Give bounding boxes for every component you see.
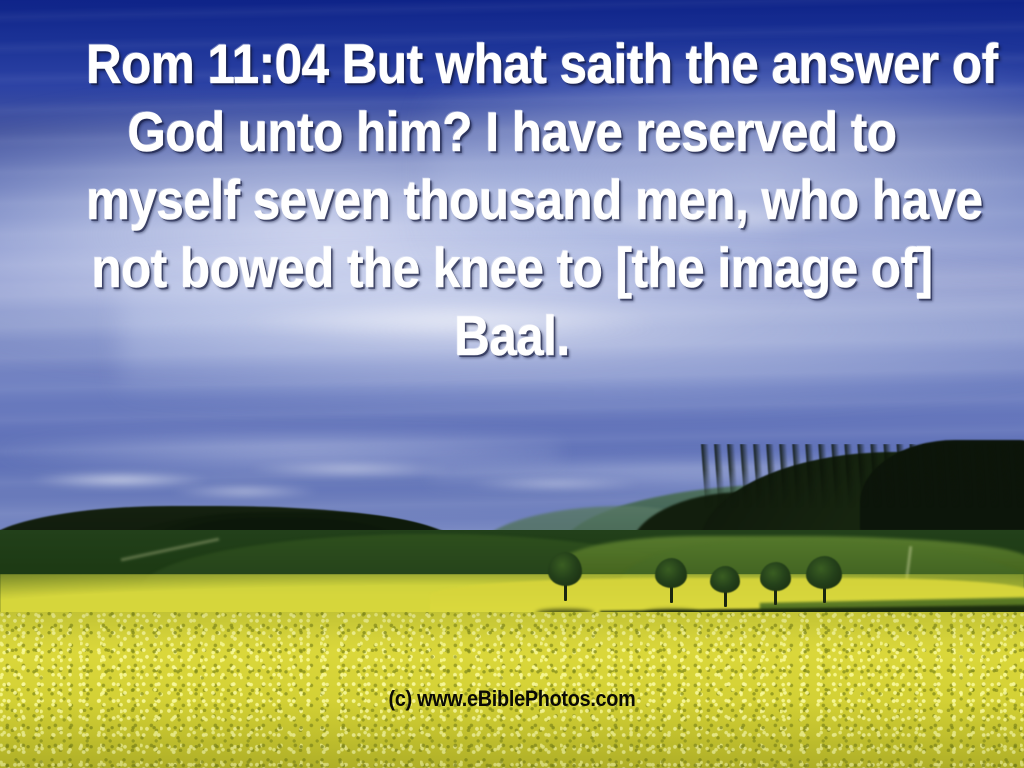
tree-crown <box>760 562 791 591</box>
verse-text-overlay: Rom 11:04 But what saith the answer of G… <box>61 30 962 370</box>
verse-line-3: myself seven thousand men, who have <box>86 166 938 234</box>
tree-crown <box>655 558 687 588</box>
verse-line-1: Rom 11:04 But what saith the answer of <box>86 30 938 98</box>
cloud-small-b <box>170 485 320 498</box>
tree-crown <box>710 566 740 593</box>
tree-crown <box>548 552 582 586</box>
verse-line-5: Baal. <box>86 302 938 370</box>
verse-line-2: God unto him? I have reserved to <box>86 98 938 166</box>
tree-crown <box>806 556 842 589</box>
tree-1 <box>548 552 582 616</box>
tree-4 <box>760 562 791 618</box>
copyright-watermark: (c) www.eBiblePhotos.com <box>51 688 973 710</box>
cloud-small-d <box>470 478 640 490</box>
tree-5 <box>806 556 842 618</box>
verse-line-4: not bowed the knee to [the image of] <box>86 234 938 302</box>
verse-photo-canvas: Rom 11:04 But what saith the answer of G… <box>0 0 1024 768</box>
conifer-crowns <box>700 444 1024 508</box>
tree-2 <box>655 558 687 616</box>
rapeseed-top-shading <box>0 612 1024 652</box>
cloud-small-c <box>250 462 450 476</box>
